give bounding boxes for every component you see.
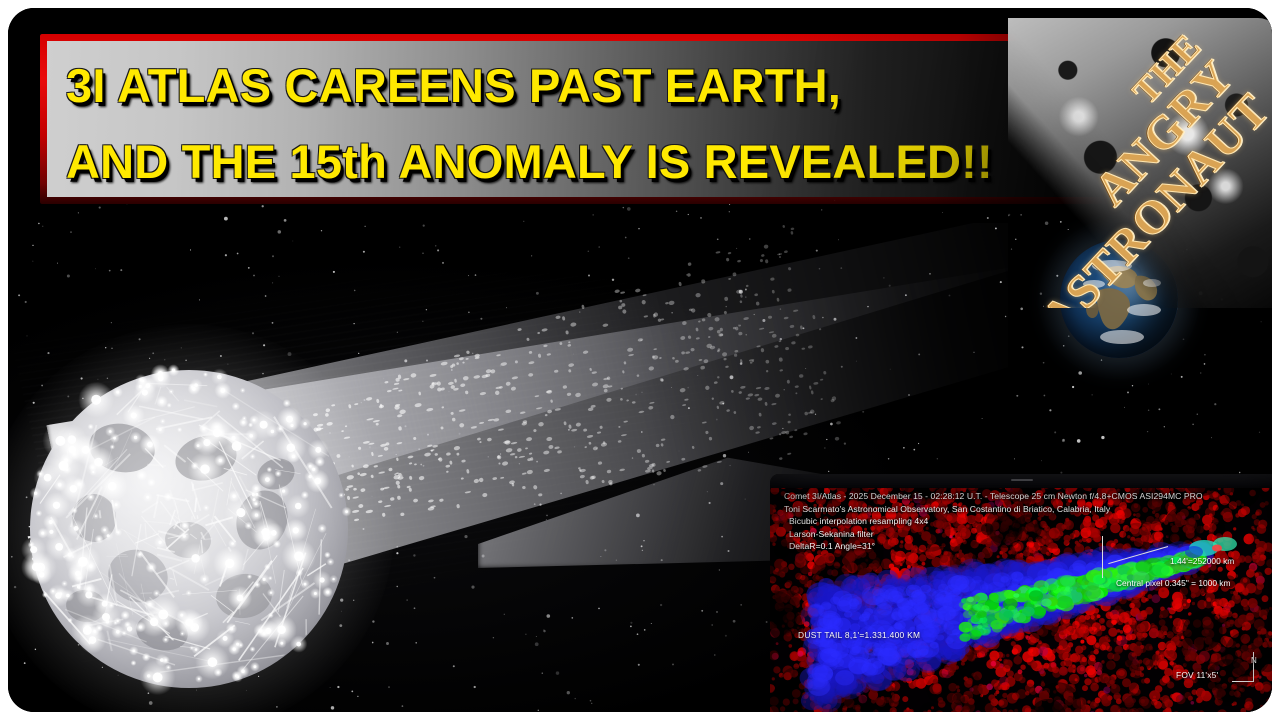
inset-header-line-3: Bicubic interpolation resampling 4x4	[784, 515, 1203, 528]
central-pixel-leader-line	[1102, 536, 1103, 578]
thumbnail-inner-frame: 3I ATLAS CAREENS PAST EARTH, AND THE 15t…	[8, 8, 1272, 712]
inset-header-line-4: Larson-Sekanina filter	[784, 528, 1203, 541]
channel-logo: THE ANGRY ASTRONAUT	[1008, 18, 1272, 308]
comet-nucleus	[30, 370, 348, 688]
video-thumbnail: 3I ATLAS CAREENS PAST EARTH, AND THE 15t…	[0, 0, 1280, 720]
nucleus-light-points	[30, 370, 348, 688]
compass-north-label: N	[1251, 656, 1257, 665]
annotation-central-pixel: Central pixel 0.345" = 1000 km	[1116, 578, 1230, 588]
title-banner-inner: 3I ATLAS CAREENS PAST EARTH, AND THE 15t…	[47, 41, 1130, 197]
inset-header-text: Comet 3I/Atlas - 2025 December 15 - 02:2…	[784, 490, 1203, 553]
inset-header-line-1: Comet 3I/Atlas - 2025 December 15 - 02:2…	[784, 490, 1203, 503]
title-line-2: AND THE 15th ANOMALY IS REVEALED!!	[66, 124, 1130, 197]
false-color-inset-panel: Comet 3I/Atlas - 2025 December 15 - 02:2…	[770, 474, 1272, 712]
compass-east-axis	[1232, 681, 1254, 682]
inset-title-bar	[770, 474, 1272, 488]
title-line-1: 3I ATLAS CAREENS PAST EARTH,	[66, 48, 1130, 124]
compass-rose	[1232, 652, 1266, 686]
title-banner: 3I ATLAS CAREENS PAST EARTH, AND THE 15t…	[40, 34, 1130, 204]
annotation-dust-tail: DUST TAIL 8,1'=1.331.400 KM	[798, 630, 920, 640]
annotation-scale-bar: 1.44'=252000 km	[1170, 556, 1234, 566]
annotation-fov: FOV 11'x5'	[1176, 670, 1218, 680]
inset-header-line-5: DeltaR=0.1 Angle=31°	[784, 540, 1203, 553]
inset-header-line-2: Toni Scarmato's Astronomical Observatory…	[784, 503, 1203, 516]
